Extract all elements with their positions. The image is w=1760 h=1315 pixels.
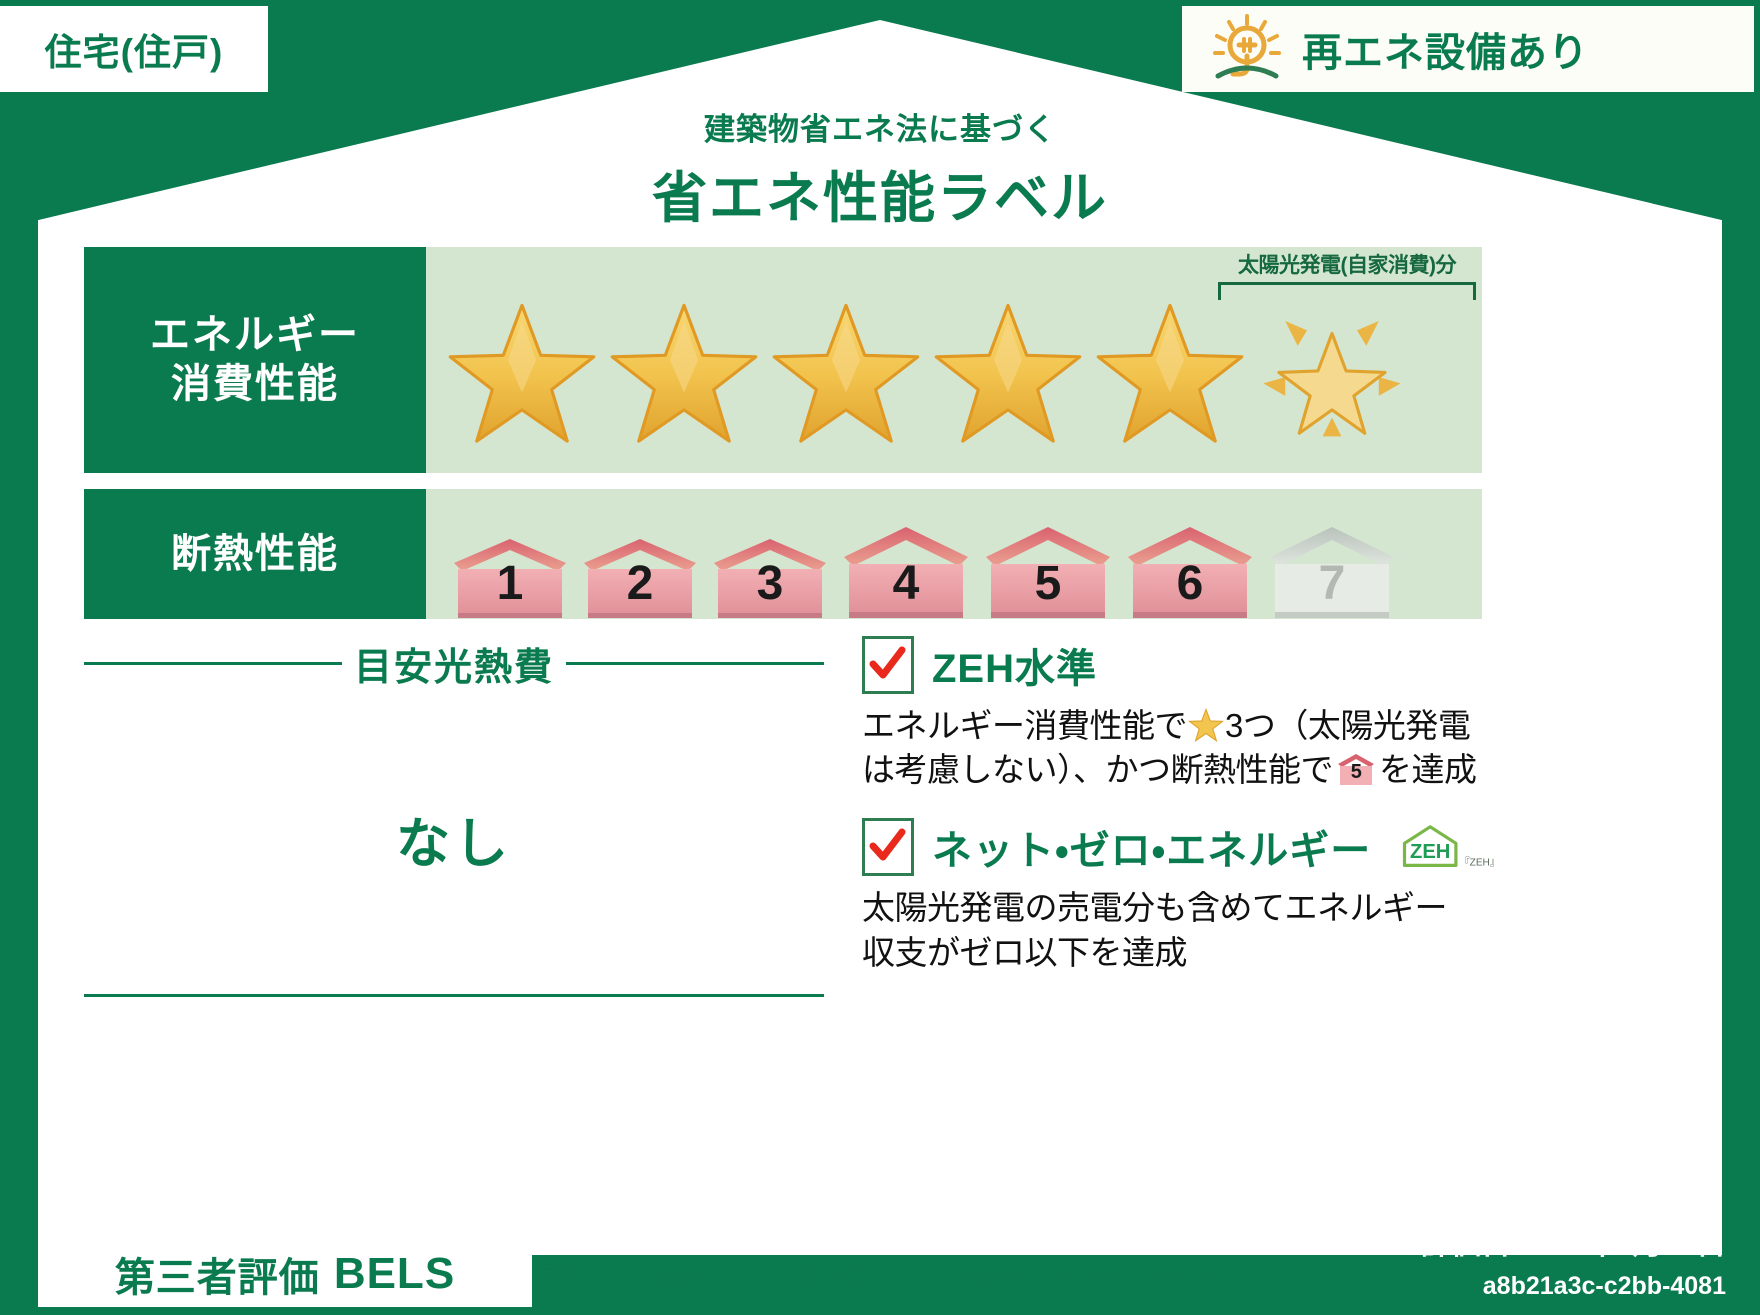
star-burst-solar-6: [1254, 299, 1410, 449]
title-subtitle: 建築物省エネ法に基づく: [0, 104, 1760, 149]
energy-label-line1: エネルギー: [150, 311, 360, 360]
zeh-standard-header: ZEH水準: [862, 636, 1502, 694]
solar-note-text: 太陽光発電(自家消費)分: [1218, 249, 1476, 279]
net-zero-energy-block: ネット・ゼロ・エネルギー ZEH 『ZEH』 太陽光発電の売電分も含めてエネルギ…: [862, 818, 1502, 974]
energy-performance-label: エネルギー 消費性能: [84, 247, 426, 473]
star-filled-3: [768, 299, 924, 449]
energy-label-line2: 消費性能: [171, 360, 339, 409]
utility-cost-block: 目安光熱費 なし: [84, 636, 824, 997]
inline-grade-value: 5: [1336, 751, 1376, 787]
zeh-desc-part-d: を達成: [1379, 751, 1477, 788]
solar-bracket: [1218, 282, 1476, 300]
inline-star-icon: [1188, 708, 1224, 742]
energy-performance-row: エネルギー 消費性能 太陽光発電(自家消費)分: [84, 247, 1482, 473]
building-type-badge: 住宅(住戸): [0, 6, 268, 92]
renewable-badge-label: 再エネ設備あり: [1302, 20, 1589, 78]
insulation-grade-3: 3: [706, 533, 834, 619]
zeh-desc-part-c: は考慮しない）、かつ断熱性能で: [862, 751, 1333, 788]
renewable-energy-badge: 再エネ設備あり: [1182, 6, 1754, 92]
insulation-grade-7: 7: [1262, 519, 1402, 619]
insulation-performance-row: 断熱性能 1 2: [84, 489, 1482, 619]
insulation-grade-scale: 1 2 3: [446, 519, 1402, 619]
sun-plug-icon: [1208, 12, 1286, 87]
net-zero-desc-b: 収支がゼロ以下を達成: [862, 934, 1187, 971]
zeh-desc-part-b: 3つ（太陽光発電: [1225, 707, 1470, 744]
insulation-performance-label: 断熱性能: [84, 489, 426, 619]
inline-grade-house-icon: 5: [1336, 751, 1376, 787]
star-filled-2: [606, 299, 762, 449]
star-filled-5: [1092, 299, 1248, 449]
utility-cost-value: なし: [84, 799, 824, 878]
insulation-grade-7-value: 7: [1262, 556, 1402, 611]
evaluation-date: 評価日 2025年5月16日: [1421, 1219, 1726, 1263]
insulation-label-text: 断熱性能: [171, 530, 339, 579]
svg-text:ZEH: ZEH: [1410, 841, 1450, 863]
insulation-grade-6: 6: [1120, 519, 1260, 619]
svg-text:『ZEH』: 『ZEH』: [1460, 857, 1500, 869]
building-type-label: 住宅(住戸): [45, 22, 224, 76]
evaluation-id: a8b21a3c-c2bb-4081: [1483, 1272, 1726, 1301]
zeh-logo-icon: ZEH 『ZEH』: [1399, 821, 1502, 873]
insulation-grades-panel: 1 2 3: [426, 489, 1482, 619]
zeh-standard-block: ZEH水準 エネルギー消費性能で3つ（太陽光発電 は考慮しない）、かつ断熱性能で…: [862, 636, 1502, 792]
star-rating: [444, 299, 1410, 449]
star-filled-4: [930, 299, 1086, 449]
utility-cost-heading: 目安光熱費: [354, 636, 554, 691]
heading-rule-right: [566, 662, 824, 665]
bels-jp-label: 第三者評価: [115, 1245, 320, 1303]
star-filled-1: [444, 299, 600, 449]
insulation-grade-4: 4: [836, 519, 976, 619]
insulation-grade-1: 1: [446, 533, 574, 619]
insulation-grade-3-value: 3: [706, 556, 834, 611]
insulation-grade-5: 5: [978, 519, 1118, 619]
utility-cost-bottom-rule: [84, 994, 824, 997]
net-zero-title: ネット・ゼロ・エネルギー: [932, 818, 1371, 876]
net-zero-desc-a: 太陽光発電の売電分も含めてエネルギー: [862, 889, 1447, 926]
insulation-grade-1-value: 1: [446, 556, 574, 611]
energy-stars-panel: 太陽光発電(自家消費)分: [426, 247, 1482, 473]
property-address: 東久留米市中央町4丁目2棟 1号棟-42074028-0001: [540, 1253, 1230, 1297]
zeh-standard-description: エネルギー消費性能で3つ（太陽光発電 は考慮しない）、かつ断熱性能で5を達成: [862, 704, 1502, 792]
bels-en-label: BELS: [334, 1249, 455, 1299]
zeh-standard-checkbox[interactable]: [862, 636, 914, 694]
insulation-grade-6-value: 6: [1120, 556, 1260, 611]
utility-cost-heading-row: 目安光熱費: [84, 636, 824, 691]
zeh-standard-title: ZEH水準: [932, 636, 1097, 694]
net-zero-checkbox[interactable]: [862, 818, 914, 876]
bels-third-party-badge: 第三者評価 BELS: [38, 1241, 532, 1307]
label-title-block: 建築物省エネ法に基づく 省エネ性能ラベル: [0, 104, 1760, 233]
insulation-grade-5-value: 5: [978, 556, 1118, 611]
net-zero-description: 太陽光発電の売電分も含めてエネルギー 収支がゼロ以下を達成: [862, 886, 1502, 974]
solar-self-consumption-annotation: 太陽光発電(自家消費)分: [1218, 249, 1476, 300]
insulation-grade-2: 2: [576, 533, 704, 619]
net-zero-header: ネット・ゼロ・エネルギー ZEH 『ZEH』: [862, 818, 1502, 876]
title-main: 省エネ性能ラベル: [0, 153, 1760, 233]
zeh-criteria-area: ZEH水準 エネルギー消費性能で3つ（太陽光発電 は考慮しない）、かつ断熱性能で…: [862, 636, 1502, 975]
bels-energy-label: 住宅(住戸) 再エネ設備あり: [0, 0, 1760, 1315]
heading-rule-left: [84, 662, 342, 665]
insulation-grade-2-value: 2: [576, 556, 704, 611]
insulation-grade-4-value: 4: [836, 556, 976, 611]
zeh-desc-part-a: エネルギー消費性能で: [862, 707, 1187, 744]
